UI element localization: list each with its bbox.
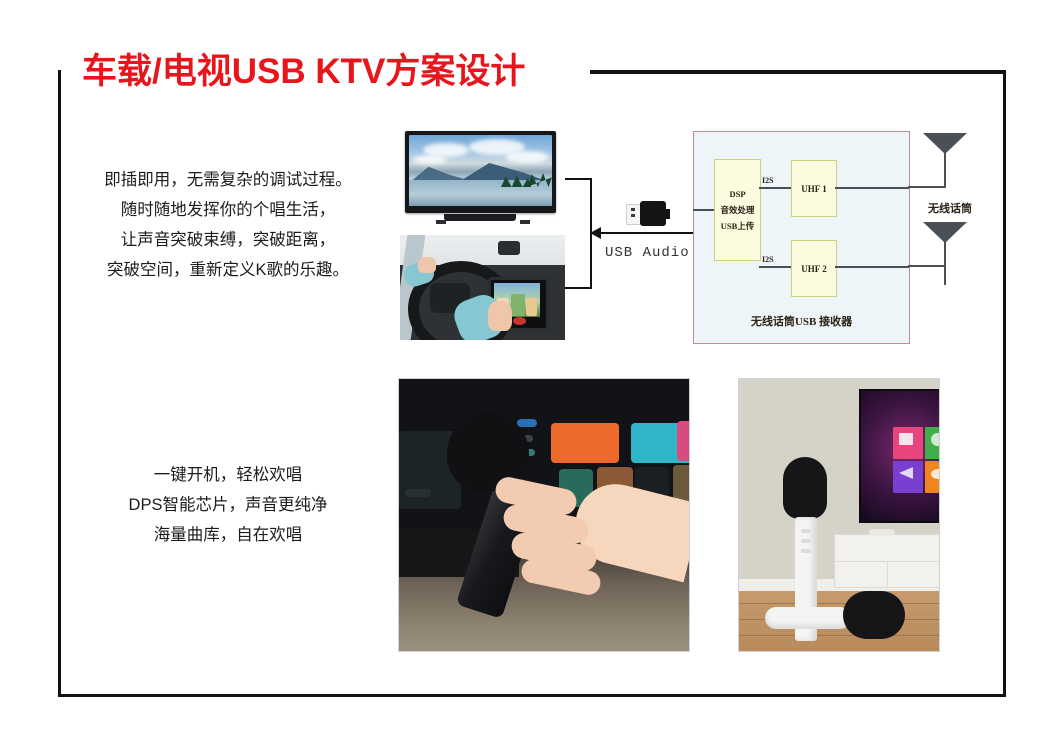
usb-connector-icon: [622, 201, 668, 226]
remote-control: [869, 529, 895, 536]
slide-root: 车载/电视USB KTV方案设计 即插即用，无需复杂的调试过程。 随时随地发挥你…: [0, 0, 1061, 749]
frame-left-border: [58, 70, 61, 697]
tv-cabinet: [834, 534, 940, 588]
dsp-block-line-3: USB上传: [721, 218, 755, 234]
wire-antenna1-feed: [908, 186, 946, 188]
uhf1-block: UHF 1: [791, 160, 837, 217]
intro-copy-line-4: 突破空间，重新定义K歌的乐趣。: [78, 255, 378, 285]
wire-uhf1-to-antenna: [835, 187, 909, 189]
antenna-icon-1: [923, 133, 967, 154]
title-underline-rule: [590, 70, 1006, 74]
tv-screen: [409, 135, 552, 206]
dsp-block: DSP 音效处理 USB上传: [714, 159, 761, 261]
feature-copy-block: 一键开机，轻松欢唱 DPS智能芯片，声音更纯净 海量曲库，自在欢唱: [78, 460, 378, 550]
usb-audio-label: USB Audio: [605, 245, 690, 261]
standing-microphone-head: [783, 457, 827, 519]
intro-copy-line-3: 让声音突破束缚，突破距离，: [78, 225, 378, 255]
wire-usb-into-dsp: [693, 209, 714, 211]
wire-car-to-bus: [565, 287, 592, 289]
i2s-label-2: I2S: [762, 255, 774, 264]
tv-bezel: [405, 131, 556, 213]
antenna-icon-2: [923, 222, 967, 243]
feature-copy-line-2: DPS智能芯片，声音更纯净: [78, 490, 378, 520]
i2s-label-1: I2S: [762, 176, 774, 185]
frame-bottom-border: [58, 694, 1006, 697]
intro-copy-line-1: 即插即用，无需复杂的调试过程。: [78, 165, 378, 195]
dsp-block-line-2: 音效处理: [720, 202, 754, 218]
arrow-left-icon: [590, 227, 601, 239]
hand-holding-microphone-in-car-photo: [398, 378, 690, 652]
car-interior-touchscreen-photo: [400, 235, 565, 340]
wire-dsp-to-uhf1: [759, 187, 791, 189]
wire-usb-audio: [601, 232, 693, 234]
frame-right-border: [1003, 70, 1006, 697]
uhf2-block: UHF 2: [791, 240, 837, 297]
tv-foot-left: [436, 220, 446, 224]
wire-antenna2-feed: [908, 265, 946, 267]
feature-copy-line-3: 海量曲库，自在欢唱: [78, 520, 378, 550]
lying-microphone-head: [843, 591, 905, 639]
intro-copy-line-2: 随时随地发挥你的个唱生活，: [78, 195, 378, 225]
tv-foot-right: [520, 220, 530, 224]
wire-uhf2-to-antenna: [835, 266, 909, 268]
mic-button-3: [801, 549, 811, 553]
feature-copy-line-1: 一键开机，轻松欢唱: [78, 460, 378, 490]
diagram-caption: 无线话筒USB 接收器: [694, 313, 909, 329]
dsp-block-line-1: DSP: [729, 186, 745, 202]
intro-copy-block: 即插即用，无需复杂的调试过程。 随时随地发挥你的个唱生活， 让声音突破束缚，突破…: [78, 165, 378, 285]
wireless-mic-label: 无线话筒: [928, 200, 972, 216]
flat-screen-tv-photo: [400, 125, 565, 232]
wire-tv-to-bus: [565, 178, 592, 180]
mic-button-2: [801, 539, 811, 543]
car-rearview-mirror: [498, 241, 520, 255]
tv-stand: [444, 214, 516, 221]
living-room-microphones-tv-photo: [738, 378, 940, 652]
uhf2-block-label: UHF 2: [801, 264, 826, 274]
wall-mounted-tv: [859, 389, 940, 523]
mic-button-1: [801, 529, 811, 533]
receiver-block-diagram: DSP 音效处理 USB上传 UHF 1 UHF 2 I2S I2S 无线话筒U…: [693, 131, 910, 344]
uhf1-block-label: UHF 1: [801, 184, 826, 194]
lying-microphone-body: [765, 607, 851, 629]
wire-dsp-to-uhf2: [759, 266, 791, 268]
page-title: 车载/电视USB KTV方案设计: [82, 43, 525, 94]
